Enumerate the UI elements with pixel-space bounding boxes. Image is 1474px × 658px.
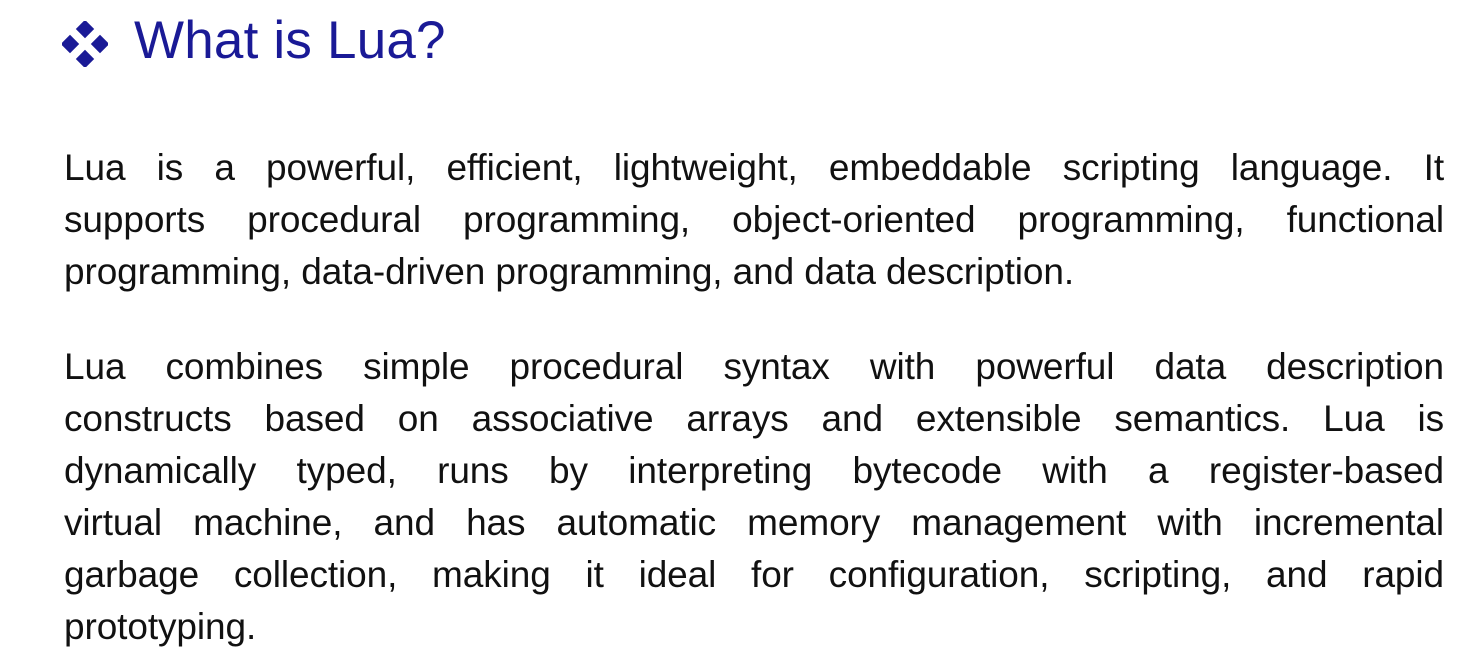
slide-title-row: What is Lua? [62,14,446,67]
paragraph-2-line-2: constructs based on associative arrays a… [64,393,1444,445]
paragraph-2-line-3: dynamically typed, runs by interpreting … [64,445,1444,497]
paragraph-1-line-2: supports procedural programming, object-… [64,194,1444,246]
paragraph-2: Lua combines simple procedural syntax wi… [64,341,1444,653]
paragraph-2-line-1: Lua combines simple procedural syntax wi… [64,341,1444,393]
paragraph-2-line-5: garbage collection, making it ideal for … [64,549,1444,601]
four-diamond-bullet-icon [62,21,108,67]
paragraph-2-line-6: prototyping. [64,601,1444,653]
slide-canvas: What is Lua? Lua is a powerful, efficien… [0,0,1474,658]
paragraph-2-line-4: virtual machine, and has automatic memor… [64,497,1444,549]
page-title: What is Lua? [134,14,446,67]
paragraph-1-line-1: Lua is a powerful, efficient, lightweigh… [64,142,1444,194]
paragraph-1: Lua is a powerful, efficient, lightweigh… [64,142,1444,298]
paragraph-1-line-3: programming, data-driven programming, an… [64,246,1444,298]
slide-body: Lua is a powerful, efficient, lightweigh… [64,142,1444,653]
